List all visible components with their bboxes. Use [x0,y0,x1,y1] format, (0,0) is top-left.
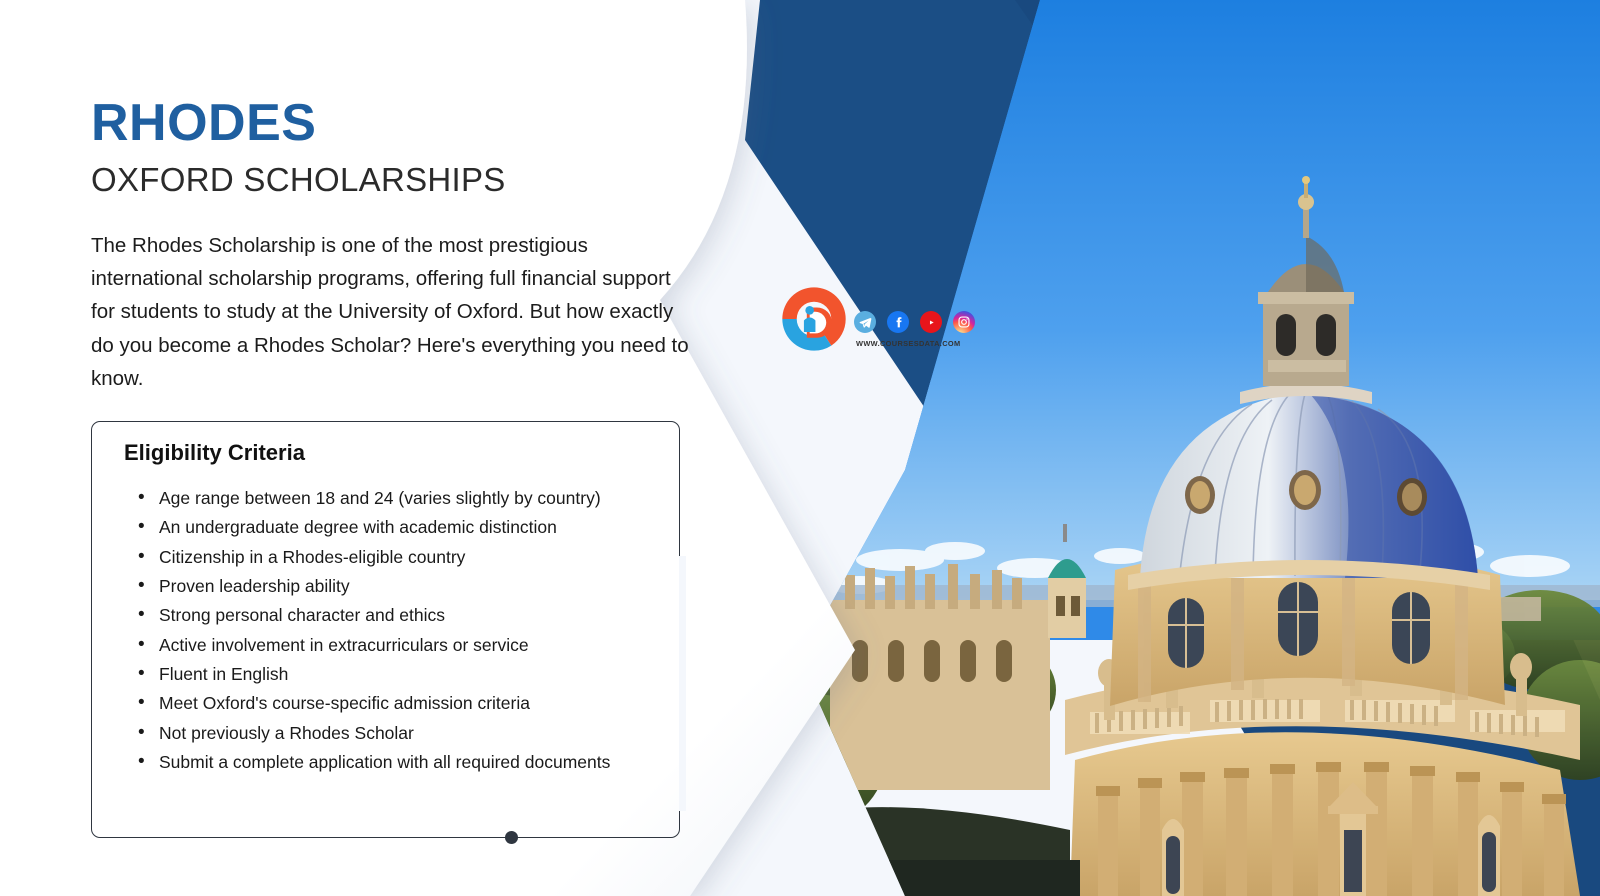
eligibility-list-item: Citizenship in a Rhodes-eligible country [136,543,656,571]
page-subtitle: OXFORD SCHOLARSHIPS [91,161,691,199]
brand-logo-block: WWW.COURSESDATA.COM [778,283,975,355]
eligibility-list-item: Fluent in English [136,660,656,688]
coursesdata-logo-icon [778,283,850,355]
facebook-icon[interactable] [887,311,909,333]
card-border-gap [679,556,686,811]
social-and-url: WWW.COURSESDATA.COM [854,311,975,348]
social-icons-row [854,311,975,333]
intro-paragraph: The Rhodes Scholarship is one of the mos… [91,229,691,396]
eligibility-list: Age range between 18 and 24 (varies slig… [136,484,656,777]
telegram-icon[interactable] [854,311,876,333]
page-title: RHODES [91,96,691,151]
eligibility-list-item: Submit a complete application with all r… [136,748,656,776]
eligibility-list-item: Meet Oxford's course-specific admission … [136,689,656,717]
eligibility-list-item: Strong personal character and ethics [136,601,656,629]
eligibility-list-item: An undergraduate degree with academic di… [136,513,656,541]
poster-canvas: RHODES OXFORD SCHOLARSHIPS The Rhodes Sc… [0,0,1600,896]
instagram-icon[interactable] [953,311,975,333]
eligibility-list-item: Not previously a Rhodes Scholar [136,719,656,747]
text-content-block: RHODES OXFORD SCHOLARSHIPS The Rhodes Sc… [91,96,691,396]
youtube-icon[interactable] [920,311,942,333]
eligibility-heading: Eligibility Criteria [124,440,305,466]
eligibility-list-item: Age range between 18 and 24 (varies slig… [136,484,656,512]
eligibility-criteria-card: Eligibility Criteria Age range between 1… [91,421,680,838]
eligibility-list-item: Active involvement in extracurriculars o… [136,631,656,659]
website-url: WWW.COURSESDATA.COM [856,339,975,348]
eligibility-list-item: Proven leadership ability [136,572,656,600]
card-bottom-handle-dot[interactable] [505,831,518,844]
